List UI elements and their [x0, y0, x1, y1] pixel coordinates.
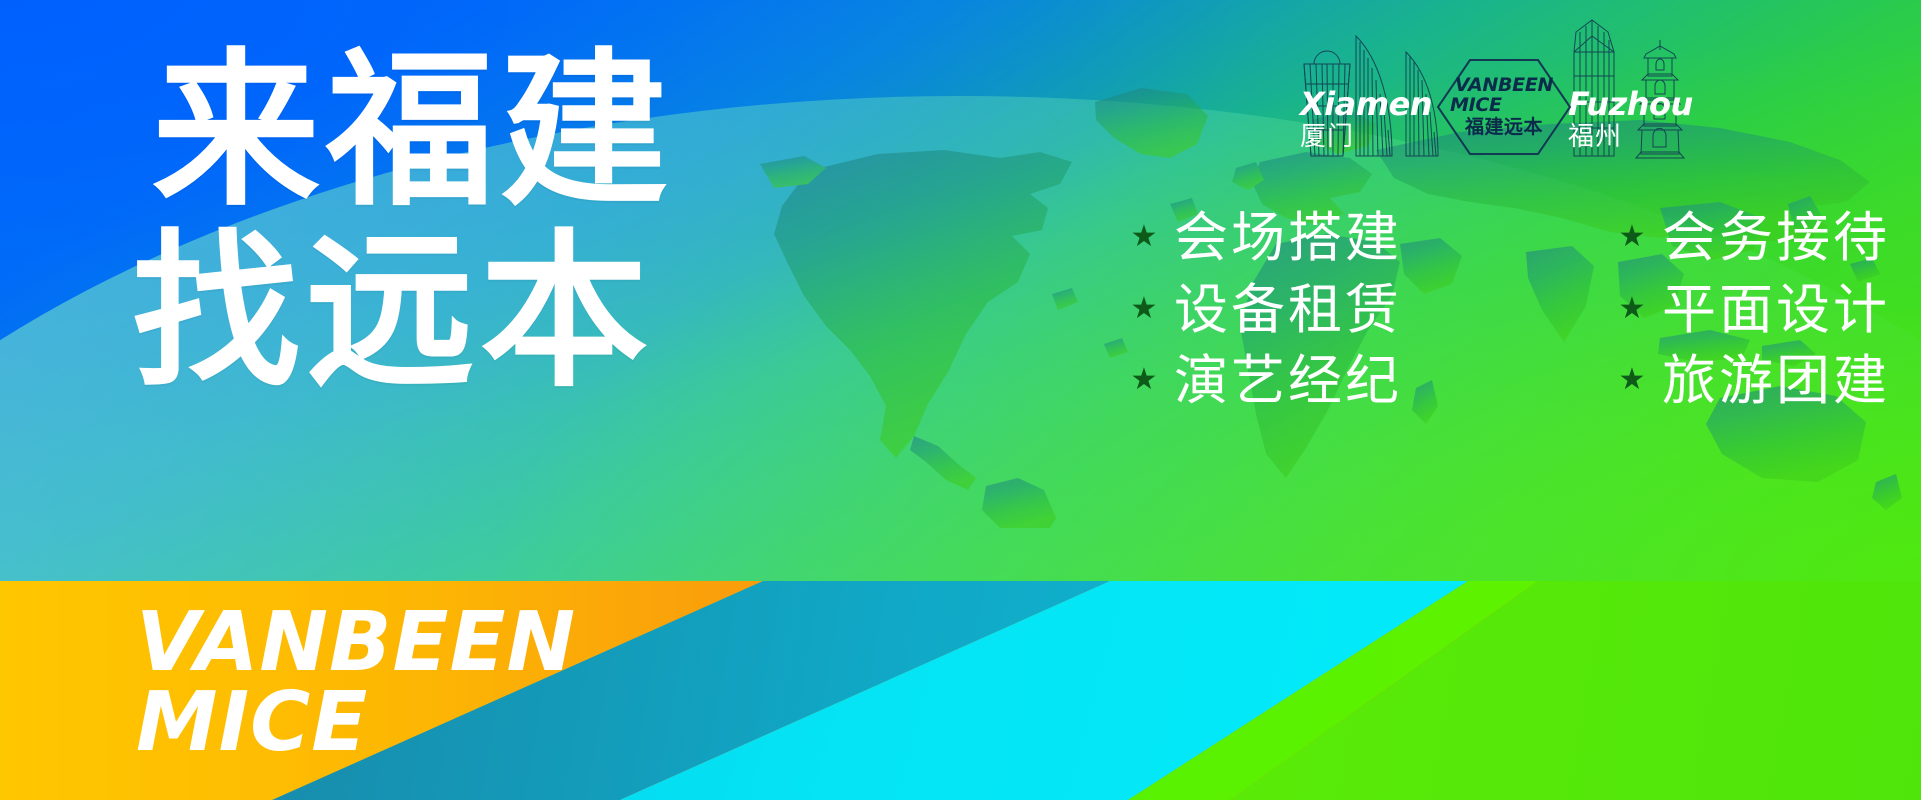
- service-item: ★ 演艺经纪: [1130, 349, 1510, 413]
- page-title: 来福建 找远本: [152, 46, 674, 399]
- badge-cn: 福建远本: [1465, 118, 1543, 138]
- star-icon: ★: [1130, 224, 1158, 252]
- service-label: 会务接待: [1662, 206, 1890, 270]
- brand-line-1: VANBEEN: [136, 603, 576, 683]
- service-item: ★ 旅游团建: [1618, 349, 1890, 413]
- brand-line-2: MICE: [136, 683, 576, 763]
- star-icon: ★: [1130, 367, 1158, 395]
- brand-wordmark: VANBEEN MICE: [136, 603, 576, 762]
- service-list: ★ 会场搭建 ★ 会务接待 ★ 设备租赁 ★ 平面设计 ★ 演艺经纪 ★ 旅游团…: [1130, 206, 1890, 413]
- badge-en-line-2: MICE: [1450, 96, 1502, 116]
- fuzhou-tower-icon: [1574, 20, 1614, 156]
- xiamen-twin-towers-icon: [1356, 36, 1438, 156]
- badge-en-line-1: VANBEEN: [1455, 76, 1553, 96]
- city-logo-lockup: Xiamen 厦门 Fuzhou 福州 VANBEEN MICE 福建远本: [1296, 6, 1716, 176]
- star-icon: ★: [1618, 296, 1646, 324]
- service-item: ★ 设备租赁: [1130, 278, 1510, 342]
- service-item: ★ 平面设计: [1618, 278, 1890, 342]
- star-icon: ★: [1130, 296, 1158, 324]
- service-label: 设备租赁: [1174, 278, 1402, 342]
- service-item: ★ 会务接待: [1618, 206, 1890, 270]
- service-label: 会场搭建: [1174, 206, 1402, 270]
- promotional-banner: 来福建 找远本 ★ 会场搭建 ★ 会务接待 ★ 设备租赁 ★ 平面设计 ★: [0, 0, 1921, 800]
- star-icon: ★: [1618, 367, 1646, 395]
- star-icon: ★: [1618, 224, 1646, 252]
- headline-line-1: 来福建: [152, 46, 674, 217]
- hexagon-badge-text: VANBEEN MICE 福建远本: [1436, 58, 1572, 156]
- service-label: 平面设计: [1662, 278, 1890, 342]
- banner-bottom-band: VANBEEN MICE: [0, 581, 1921, 800]
- fuzhou-pagoda-icon: [1636, 40, 1684, 158]
- service-item: ★ 会场搭建: [1130, 206, 1510, 270]
- service-label: 旅游团建: [1662, 349, 1890, 413]
- headline-line-2: 找远本: [132, 227, 674, 398]
- xiamen-lantern-icon: [1304, 51, 1350, 156]
- service-label: 演艺经纪: [1174, 349, 1402, 413]
- banner-main-panel: 来福建 找远本 ★ 会场搭建 ★ 会务接待 ★ 设备租赁 ★ 平面设计 ★: [0, 0, 1921, 581]
- vanbeen-hexagon-badge: VANBEEN MICE 福建远本: [1436, 58, 1572, 156]
